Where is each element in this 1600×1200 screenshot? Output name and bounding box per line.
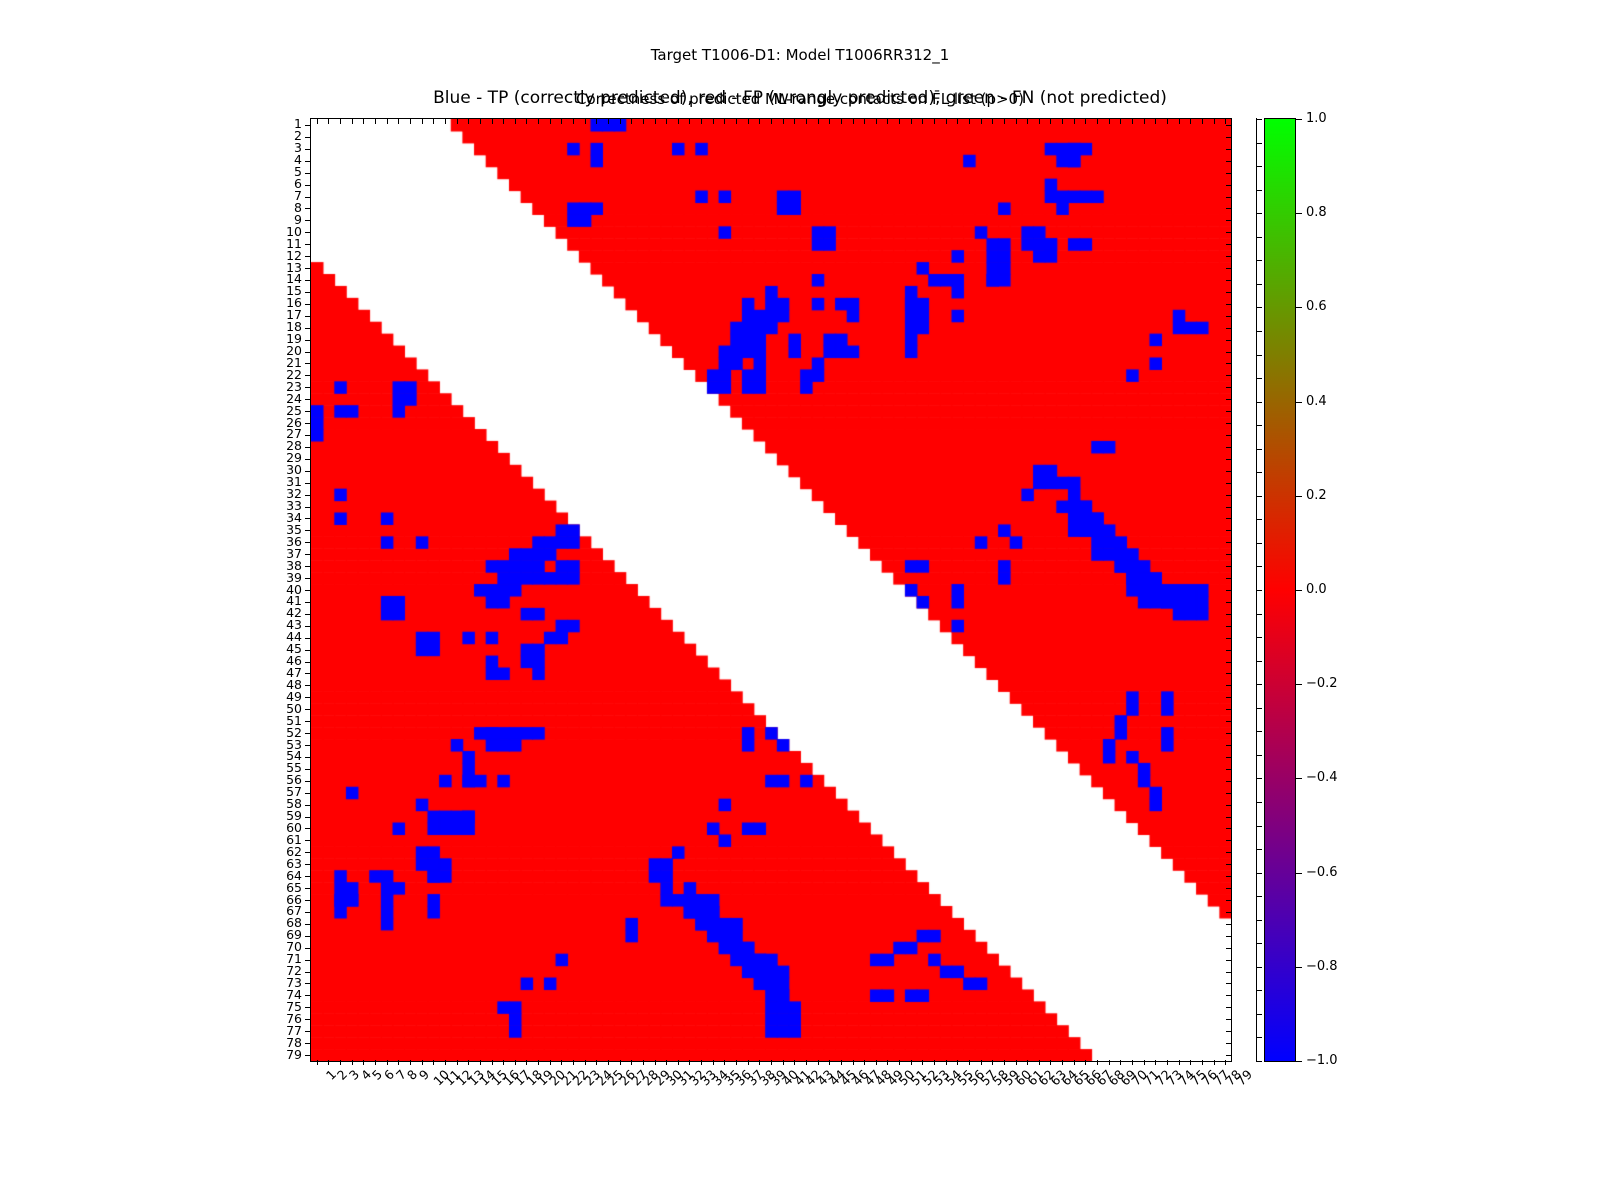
x-axis-tick-top	[957, 119, 958, 124]
y-axis-tick	[305, 864, 310, 865]
x-axis-tick	[853, 1060, 854, 1065]
y-axis-tick	[305, 554, 310, 555]
x-axis-tick	[1062, 1060, 1063, 1065]
x-axis-tick	[503, 1060, 504, 1065]
y-axis-tick	[305, 578, 310, 579]
x-axis-tick-top	[1050, 119, 1051, 124]
y-axis-tick	[305, 208, 310, 209]
x-axis-tick	[655, 1060, 656, 1065]
colorbar-major-tick	[1296, 873, 1302, 874]
y-axis-tick-right	[1226, 995, 1231, 996]
colorbar-minor-tick	[1257, 731, 1262, 732]
x-axis-tick	[829, 1060, 830, 1065]
y-axis-tick	[305, 995, 310, 996]
colorbar-tick-label: 0.6	[1306, 300, 1327, 313]
y-axis-tick-right	[1226, 793, 1231, 794]
x-axis-tick	[1085, 1060, 1086, 1065]
x-axis-tick	[899, 1060, 900, 1065]
colorbar-major-tick	[1296, 1061, 1302, 1062]
x-axis-tick	[736, 1060, 737, 1065]
colorbar-minor-tick	[1257, 943, 1262, 944]
x-axis-tick	[445, 1060, 446, 1065]
x-axis-tick	[934, 1060, 935, 1065]
y-axis-tick	[305, 542, 310, 543]
colorbar-tick-label: −0.2	[1306, 677, 1338, 690]
x-axis-tick	[759, 1060, 760, 1065]
colorbar-minor-tick	[1257, 708, 1262, 709]
y-axis-tick-right	[1226, 447, 1231, 448]
y-axis-tick	[305, 518, 310, 519]
y-axis-tick-right	[1226, 232, 1231, 233]
x-axis-tick-top	[666, 119, 667, 124]
y-axis-tick-right	[1226, 590, 1231, 591]
x-axis-tick-top	[317, 119, 318, 124]
x-axis-tick	[317, 1060, 318, 1065]
colorbar-minor-tick	[1257, 1037, 1262, 1038]
colorbar-minor-tick	[1257, 755, 1262, 756]
x-axis-tick-top	[1179, 119, 1180, 124]
y-axis-tick	[305, 793, 310, 794]
y-axis-tick	[305, 566, 310, 567]
x-axis-tick	[678, 1060, 679, 1065]
y-axis-tick	[305, 912, 310, 913]
x-axis-tick	[946, 1060, 947, 1065]
colorbar-minor-tick	[1257, 826, 1262, 827]
y-axis-tick	[305, 232, 310, 233]
y-axis-tick-right	[1226, 411, 1231, 412]
x-axis-tick-top	[701, 119, 702, 124]
y-axis-tick	[305, 948, 310, 949]
x-axis-tick-top	[398, 119, 399, 124]
colorbar-minor-tick	[1257, 1061, 1262, 1062]
y-axis-tick-right	[1226, 387, 1231, 388]
y-axis-tick-right	[1226, 566, 1231, 567]
colorbar-minor-tick	[1257, 637, 1262, 638]
colorbar-minor-tick	[1257, 1014, 1262, 1015]
colorbar-tick-label: −1.0	[1306, 1054, 1338, 1067]
y-axis-tick	[305, 614, 310, 615]
y-axis-tick	[305, 590, 310, 591]
y-axis-tick	[305, 924, 310, 925]
x-axis-tick	[1179, 1060, 1180, 1065]
colorbar-minor-tick	[1257, 566, 1262, 567]
y-axis-tick-right	[1226, 864, 1231, 865]
colorbar-tick-label: 0.8	[1306, 206, 1327, 219]
colorbar-tick-label: −0.6	[1306, 866, 1338, 879]
x-axis-tick	[1202, 1060, 1203, 1065]
x-axis-tick	[771, 1060, 772, 1065]
y-axis-tick	[305, 447, 310, 448]
x-axis-tick-top	[724, 119, 725, 124]
y-axis-tick-right	[1226, 852, 1231, 853]
y-axis-tick	[305, 483, 310, 484]
y-axis-tick	[305, 304, 310, 305]
y-axis-tick-right	[1226, 316, 1231, 317]
x-axis-tick-top	[1039, 119, 1040, 124]
contact-map-heatmap	[311, 119, 1231, 1061]
colorbar-major-tick	[1296, 402, 1302, 403]
x-axis-tick-top	[736, 119, 737, 124]
x-axis-tick	[1214, 1060, 1215, 1065]
y-axis-tick	[305, 1031, 310, 1032]
x-axis-tick-top	[876, 119, 877, 124]
colorbar: 1.00.80.60.40.20.0−0.2−0.4−0.6−0.8−1.0	[1264, 118, 1296, 1062]
x-axis-tick-top	[480, 119, 481, 124]
y-axis-tick	[305, 328, 310, 329]
contact-map-plot	[310, 118, 1232, 1062]
colorbar-minor-tick	[1257, 496, 1262, 497]
x-axis-tick-top	[1214, 119, 1215, 124]
x-axis-tick	[876, 1060, 877, 1065]
y-axis-tick	[305, 757, 310, 758]
y-axis-tick	[305, 316, 310, 317]
x-axis-tick-top	[503, 119, 504, 124]
colorbar-major-tick	[1296, 307, 1302, 308]
x-axis-tick	[585, 1060, 586, 1065]
y-axis-tick	[305, 137, 310, 138]
y-axis-tick-right	[1226, 888, 1231, 889]
y-axis-tick	[305, 507, 310, 508]
colorbar-tick-label: −0.4	[1306, 771, 1338, 784]
y-axis-tick	[305, 1055, 310, 1056]
colorbar-minor-tick	[1257, 590, 1262, 591]
colorbar-minor-tick	[1257, 849, 1262, 850]
y-axis-tick-right	[1226, 542, 1231, 543]
y-axis-tick	[305, 1019, 310, 1020]
x-axis-tick	[398, 1060, 399, 1065]
colorbar-minor-tick	[1257, 873, 1262, 874]
colorbar-minor-tick	[1257, 896, 1262, 897]
x-axis-tick-top	[759, 119, 760, 124]
y-axis-tick-right	[1226, 483, 1231, 484]
suptitle-line-1: Target T1006-D1: Model T1006RR312_1	[0, 44, 1600, 66]
x-axis-tick	[561, 1060, 562, 1065]
x-axis-tick	[410, 1060, 411, 1065]
y-axis-tick-right	[1226, 614, 1231, 615]
y-axis-tick	[305, 1007, 310, 1008]
colorbar-tick-label: 0.4	[1306, 395, 1327, 408]
y-axis-tick	[305, 363, 310, 364]
y-axis-tick-right	[1226, 602, 1231, 603]
y-axis-tick	[305, 697, 310, 698]
x-axis-tick	[806, 1060, 807, 1065]
colorbar-minor-tick	[1257, 143, 1262, 144]
x-axis-tick-top	[352, 119, 353, 124]
x-axis-tick-top	[853, 119, 854, 124]
x-axis-tick	[689, 1060, 690, 1065]
x-axis-tick-top	[1109, 119, 1110, 124]
y-axis-tick-right	[1226, 662, 1231, 663]
y-axis-tick-right	[1226, 220, 1231, 221]
y-axis-tick-right	[1226, 1031, 1231, 1032]
x-axis-tick	[794, 1060, 795, 1065]
x-axis-tick	[422, 1060, 423, 1065]
y-axis-tick-right	[1226, 518, 1231, 519]
y-axis-tick	[305, 805, 310, 806]
x-axis-tick	[1190, 1060, 1191, 1065]
x-axis-tick-top	[515, 119, 516, 124]
x-axis-tick-top	[1167, 119, 1168, 124]
colorbar-minor-tick	[1257, 307, 1262, 308]
x-axis-tick-top	[457, 119, 458, 124]
y-axis-tick-right	[1226, 352, 1231, 353]
x-axis-tick	[748, 1060, 749, 1065]
x-axis-tick-top	[922, 119, 923, 124]
x-axis-tick	[783, 1060, 784, 1065]
y-axis-tick-right	[1226, 340, 1231, 341]
x-axis-tick	[1225, 1060, 1226, 1065]
y-axis-tick-right	[1226, 697, 1231, 698]
x-axis-tick-top	[1132, 119, 1133, 124]
colorbar-minor-tick	[1257, 449, 1262, 450]
x-axis-tick-top	[643, 119, 644, 124]
x-axis-tick-top	[585, 119, 586, 124]
x-axis-tick-top	[492, 119, 493, 124]
y-axis-tick-right	[1226, 709, 1231, 710]
colorbar-minor-tick	[1257, 213, 1262, 214]
x-axis-tick-top	[981, 119, 982, 124]
x-axis-tick-label: 9	[417, 1068, 431, 1082]
y-axis-tick	[305, 662, 310, 663]
x-axis-tick	[1050, 1060, 1051, 1065]
y-axis-tick	[305, 471, 310, 472]
x-axis-tick	[666, 1060, 667, 1065]
y-axis-tick	[305, 340, 310, 341]
y-axis-tick	[305, 972, 310, 973]
y-axis-tick-right	[1226, 924, 1231, 925]
x-axis-tick	[387, 1060, 388, 1065]
y-axis-tick	[305, 399, 310, 400]
colorbar-major-tick	[1296, 213, 1302, 214]
x-axis-tick-top	[468, 119, 469, 124]
y-axis-tick-right	[1226, 900, 1231, 901]
x-axis-tick-top	[608, 119, 609, 124]
x-axis-tick-top	[655, 119, 656, 124]
colorbar-minor-tick	[1257, 543, 1262, 544]
y-axis-tick	[305, 900, 310, 901]
x-axis-tick-top	[1144, 119, 1145, 124]
colorbar-minor-tick	[1257, 402, 1262, 403]
x-axis-tick	[1155, 1060, 1156, 1065]
y-axis-tick	[305, 733, 310, 734]
x-axis-tick	[1016, 1060, 1017, 1065]
colorbar-minor-tick	[1257, 355, 1262, 356]
x-axis-tick-top	[596, 119, 597, 124]
x-axis-tick-top	[340, 119, 341, 124]
y-axis-tick	[305, 411, 310, 412]
x-axis-tick	[1097, 1060, 1098, 1065]
colorbar-minor-tick	[1257, 190, 1262, 191]
y-axis-tick-right	[1226, 769, 1231, 770]
x-axis-tick-top	[771, 119, 772, 124]
x-axis-tick	[620, 1060, 621, 1065]
x-axis-tick	[1144, 1060, 1145, 1065]
y-axis-tick-right	[1226, 363, 1231, 364]
x-axis-tick-top	[375, 119, 376, 124]
x-axis-tick-top	[946, 119, 947, 124]
colorbar-minor-tick	[1257, 331, 1262, 332]
x-axis-tick-top	[1202, 119, 1203, 124]
y-axis-tick	[305, 185, 310, 186]
figure-suptitle: Target T1006-D1: Model T1006RR312_1 Corr…	[0, 22, 1600, 132]
y-axis-tick	[305, 125, 310, 126]
y-axis-tick-right	[1226, 495, 1231, 496]
x-axis-tick	[957, 1060, 958, 1065]
x-axis-tick-top	[363, 119, 364, 124]
y-axis-tick-right	[1226, 435, 1231, 436]
y-axis-tick-right	[1226, 197, 1231, 198]
y-axis-tick	[305, 220, 310, 221]
y-axis-tick-right	[1226, 1007, 1231, 1008]
x-axis-tick	[713, 1060, 714, 1065]
y-axis-tick-right	[1226, 399, 1231, 400]
y-axis-tick-right	[1226, 960, 1231, 961]
y-axis-tick-right	[1226, 757, 1231, 758]
colorbar-tick-label: 0.0	[1306, 583, 1327, 596]
x-axis-tick	[328, 1060, 329, 1065]
y-axis-tick	[305, 840, 310, 841]
y-axis-tick	[305, 197, 310, 198]
x-axis-tick-top	[1190, 119, 1191, 124]
y-axis-tick-right	[1226, 161, 1231, 162]
y-axis-tick	[305, 435, 310, 436]
y-axis-tick	[305, 423, 310, 424]
colorbar-tick-label: −0.8	[1306, 960, 1338, 973]
colorbar-minor-tick	[1257, 166, 1262, 167]
y-axis-tick-right	[1226, 507, 1231, 508]
y-axis-tick	[305, 685, 310, 686]
x-axis-tick-top	[806, 119, 807, 124]
y-axis-tick	[305, 352, 310, 353]
x-axis-tick-top	[1004, 119, 1005, 124]
x-axis-tick-top	[1085, 119, 1086, 124]
y-axis-tick	[305, 781, 310, 782]
y-axis-tick	[305, 709, 310, 710]
x-axis-tick	[1027, 1060, 1028, 1065]
x-axis-tick-top	[538, 119, 539, 124]
y-axis-tick-right	[1226, 638, 1231, 639]
y-axis-tick	[305, 852, 310, 853]
x-axis-tick	[841, 1060, 842, 1065]
x-axis-tick-top	[631, 119, 632, 124]
y-axis-tick-right	[1226, 423, 1231, 424]
y-axis-tick-right	[1226, 530, 1231, 531]
y-axis-tick-right	[1226, 840, 1231, 841]
colorbar-minor-tick	[1257, 237, 1262, 238]
colorbar-minor-tick	[1257, 519, 1262, 520]
x-axis-tick	[480, 1060, 481, 1065]
x-axis-tick-top	[1016, 119, 1017, 124]
colorbar-minor-tick	[1257, 614, 1262, 615]
x-axis-tick-top	[526, 119, 527, 124]
x-axis-tick	[969, 1060, 970, 1065]
colorbar-major-tick	[1296, 684, 1302, 685]
x-axis-tick	[375, 1060, 376, 1065]
x-axis-tick	[1167, 1060, 1168, 1065]
x-axis-tick-top	[829, 119, 830, 124]
y-axis-tick-right	[1226, 149, 1231, 150]
y-axis-tick-right	[1226, 185, 1231, 186]
x-axis-tick	[433, 1060, 434, 1065]
x-axis-tick	[352, 1060, 353, 1065]
x-axis-tick-top	[864, 119, 865, 124]
y-axis-tick-right	[1226, 304, 1231, 305]
y-axis-tick-right	[1226, 280, 1231, 281]
x-axis-tick-top	[887, 119, 888, 124]
y-axis-tick-right	[1226, 256, 1231, 257]
y-axis-tick	[305, 280, 310, 281]
x-axis-tick-top	[818, 119, 819, 124]
y-axis-tick	[305, 292, 310, 293]
x-axis-tick	[643, 1060, 644, 1065]
y-axis-tick-right	[1226, 745, 1231, 746]
x-axis-tick-top	[783, 119, 784, 124]
x-axis-tick	[887, 1060, 888, 1065]
x-axis-tick-top	[410, 119, 411, 124]
x-axis-tick-top	[1225, 119, 1226, 124]
y-axis-tick	[305, 256, 310, 257]
y-axis-tick-right	[1226, 912, 1231, 913]
x-axis-tick-top	[573, 119, 574, 124]
colorbar-major-tick	[1296, 496, 1302, 497]
y-axis-tick-right	[1226, 292, 1231, 293]
colorbar-gradient	[1264, 118, 1296, 1062]
y-axis-tick-right	[1226, 626, 1231, 627]
y-axis-tick-right	[1226, 173, 1231, 174]
y-axis-tick	[305, 638, 310, 639]
x-axis-tick	[981, 1060, 982, 1065]
x-axis-tick-top	[841, 119, 842, 124]
y-axis-tick	[305, 530, 310, 531]
x-axis-tick-top	[387, 119, 388, 124]
colorbar-minor-tick	[1257, 472, 1262, 473]
x-axis-tick	[818, 1060, 819, 1065]
y-axis-tick-right	[1226, 817, 1231, 818]
colorbar-tick-label: 0.2	[1306, 489, 1327, 502]
y-axis-tick-right	[1226, 125, 1231, 126]
y-axis-tick-right	[1226, 948, 1231, 949]
y-axis-tick	[305, 650, 310, 651]
y-axis-tick-right	[1226, 733, 1231, 734]
x-axis-tick-top	[1062, 119, 1063, 124]
y-axis-tick-right	[1226, 650, 1231, 651]
y-axis-tick	[305, 375, 310, 376]
x-axis-tick	[363, 1060, 364, 1065]
colorbar-minor-tick	[1257, 684, 1262, 685]
y-axis-tick-right	[1226, 972, 1231, 973]
y-axis-tick-right	[1226, 936, 1231, 937]
x-axis-tick	[724, 1060, 725, 1065]
x-axis-tick-top	[1155, 119, 1156, 124]
x-axis-tick	[1120, 1060, 1121, 1065]
x-axis-tick	[1074, 1060, 1075, 1065]
x-axis-tick	[526, 1060, 527, 1065]
x-axis-tick	[631, 1060, 632, 1065]
x-axis-tick	[992, 1060, 993, 1065]
x-axis-tick-top	[992, 119, 993, 124]
x-axis-tick-top	[1074, 119, 1075, 124]
y-axis-tick	[305, 673, 310, 674]
y-axis-tick	[305, 149, 310, 150]
x-axis-tick	[538, 1060, 539, 1065]
y-axis-tick	[305, 888, 310, 889]
x-axis-tick-top	[445, 119, 446, 124]
x-axis-tick	[1132, 1060, 1133, 1065]
y-axis-tick-right	[1226, 781, 1231, 782]
colorbar-minor-tick	[1257, 661, 1262, 662]
y-axis-tick	[305, 173, 310, 174]
y-axis-tick	[305, 769, 310, 770]
